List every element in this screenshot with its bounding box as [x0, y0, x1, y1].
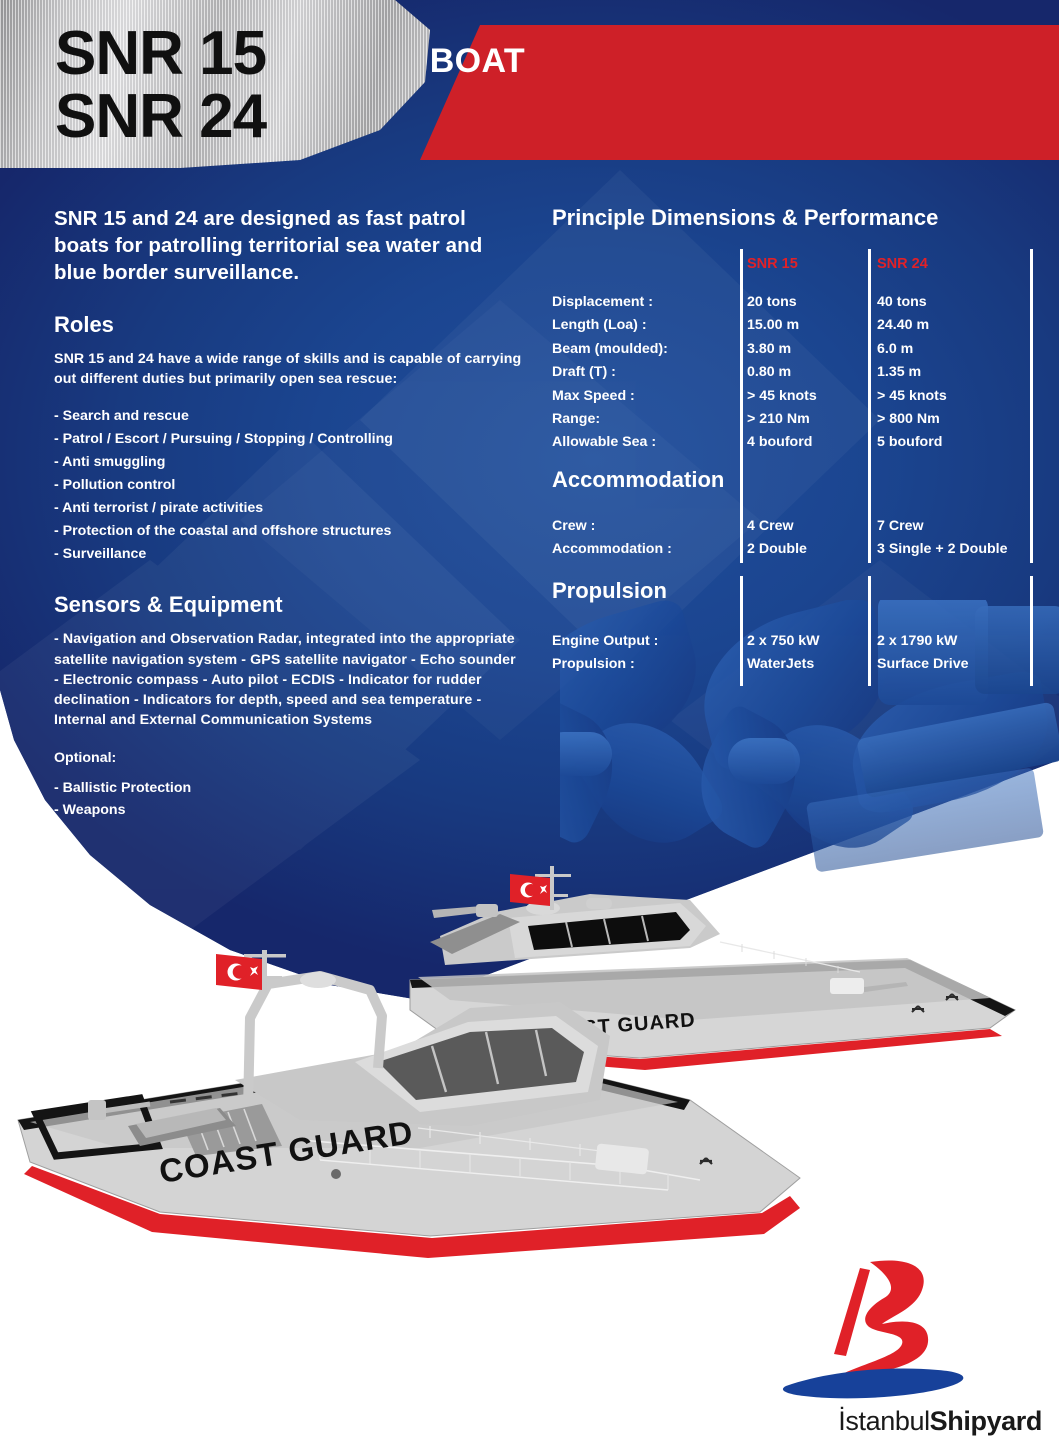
table-rule-1 [740, 249, 743, 457]
table-row: Engine Output : 2 x 750 kW 2 x 1790 kW [552, 630, 1042, 653]
spec-value-snr24: 1.35 m [877, 361, 1042, 384]
spec-value-snr15: 4 Crew [747, 515, 877, 538]
spec-label: Max Speed : [552, 385, 747, 408]
spec-value-snr24: 3 Single + 2 Double [877, 538, 1042, 561]
spec-value-snr15: 3.80 m [747, 338, 877, 361]
table-rule-2 [868, 249, 871, 457]
list-item: - Surveillance [54, 543, 524, 566]
list-item: - Patrol / Escort / Pursuing / Stopping … [54, 428, 524, 451]
specifications-column: Principle Dimensions & Performance SNR 1… [552, 205, 1042, 677]
table-row: Draft (T) : 0.80 m 1.35 m [552, 361, 1042, 384]
table-row: Beam (moulded): 3.80 m 6.0 m [552, 338, 1042, 361]
table-row: Max Speed : > 45 knots > 45 knots [552, 385, 1042, 408]
spec-value-snr24: > 800 Nm [877, 408, 1042, 431]
spec-value-snr15: > 210 Nm [747, 408, 877, 431]
roles-heading: Roles [54, 312, 524, 338]
spec-value-snr24: 24.40 m [877, 314, 1042, 337]
roles-list: - Search and rescue - Patrol / Escort / … [54, 405, 524, 566]
sensors-paragraph: - Navigation and Observation Radar, inte… [54, 629, 524, 730]
list-item: - Anti terrorist / pirate activities [54, 497, 524, 520]
model-line-1: SNR 15 [55, 22, 266, 85]
intro-paragraph: SNR 15 and 24 are designed as fast patro… [54, 205, 524, 286]
spec-label: Range: [552, 408, 747, 431]
spec-value-snr24: 2 x 1790 kW [877, 630, 1042, 653]
sensors-heading: Sensors & Equipment [54, 592, 524, 618]
table-rule-3 [1030, 451, 1033, 563]
spec-value-snr24: 5 bouford [877, 431, 1042, 454]
logo-wordmark: İstanbulShipyard [750, 1406, 1042, 1437]
table-row: Displacement : 20 tons 40 tons [552, 291, 1042, 314]
dimensions-table: SNR 15 SNR 24 Displacement : 20 tons 40 … [552, 253, 1042, 455]
spec-value-snr15: 0.80 m [747, 361, 877, 384]
list-item: - Protection of the coastal and offshore… [54, 520, 524, 543]
spec-value-snr15: > 45 knots [747, 385, 877, 408]
optional-list: - Ballistic Protection - Weapons [54, 778, 524, 821]
patrol-boat-front: COAST GUARD [0, 950, 860, 1270]
table-row: Range: > 210 Nm > 800 Nm [552, 408, 1042, 431]
table-row: Crew : 4 Crew 7 Crew [552, 515, 1042, 538]
list-item: - Weapons [54, 800, 524, 821]
spec-value-snr15: 4 bouford [747, 431, 877, 454]
propulsion-table: Engine Output : 2 x 750 kW 2 x 1790 kW P… [552, 630, 1042, 677]
list-item: - Pollution control [54, 474, 524, 497]
optional-heading: Optional: [54, 750, 524, 766]
page-header: FAST PATROL BOAT SNR 15 SNR 24 [0, 0, 1059, 170]
table-header-row: SNR 15 SNR 24 [552, 253, 1042, 277]
list-item: - Anti smuggling [54, 451, 524, 474]
table-rule-1 [740, 451, 743, 563]
spec-value-snr15: 20 tons [747, 291, 877, 314]
spec-label [552, 253, 747, 277]
propulsion-heading: Propulsion [552, 578, 1042, 604]
roles-intro: SNR 15 and 24 have a wide range of skill… [54, 349, 524, 389]
column-header-snr15: SNR 15 [747, 253, 877, 277]
logo-name-bold: Shipyard [930, 1406, 1042, 1436]
accommodation-table: Crew : 4 Crew 7 Crew Accommodation : 2 D… [552, 515, 1042, 562]
table-rule-3 [1030, 576, 1033, 686]
spec-value-snr15: 15.00 m [747, 314, 877, 337]
spec-label: Beam (moulded): [552, 338, 747, 361]
table-rule-3 [1030, 249, 1033, 457]
logo-name-light: İstanbul [838, 1406, 929, 1436]
accommodation-heading: Accommodation [552, 467, 1042, 493]
table-rule-2 [868, 451, 871, 563]
spec-value-snr24: 40 tons [877, 291, 1042, 314]
spec-label: Draft (T) : [552, 361, 747, 384]
table-rule-1 [740, 576, 743, 686]
company-logo: İstanbulShipyard [742, 1258, 1042, 1436]
table-row: Length (Loa) : 15.00 m 24.40 m [552, 314, 1042, 337]
spec-label: Length (Loa) : [552, 314, 747, 337]
model-line-2: SNR 24 [55, 85, 266, 148]
model-name-block: SNR 15 SNR 24 [55, 22, 266, 148]
spec-label: Engine Output : [552, 630, 747, 653]
list-item: - Ballistic Protection [54, 778, 524, 799]
list-item: - Search and rescue [54, 405, 524, 428]
spec-value-snr15: WaterJets [747, 653, 877, 676]
dimensions-heading: Principle Dimensions & Performance [552, 205, 1042, 231]
table-row: Propulsion : WaterJets Surface Drive [552, 653, 1042, 676]
spec-label: Crew : [552, 515, 747, 538]
spec-value-snr24: 6.0 m [877, 338, 1042, 361]
table-rule-2 [868, 576, 871, 686]
spec-value-snr15: 2 x 750 kW [747, 630, 877, 653]
spec-label: Propulsion : [552, 653, 747, 676]
spec-value-snr24: > 45 knots [877, 385, 1042, 408]
spec-value-snr24: Surface Drive [877, 653, 1042, 676]
spec-value-snr24: 7 Crew [877, 515, 1042, 538]
spec-label: Accommodation : [552, 538, 747, 561]
spec-value-snr15: 2 Double [747, 538, 877, 561]
spec-label: Allowable Sea : [552, 431, 747, 454]
table-row: Accommodation : 2 Double 3 Single + 2 Do… [552, 538, 1042, 561]
column-header-snr24: SNR 24 [877, 253, 1042, 277]
table-row: Allowable Sea : 4 bouford 5 bouford [552, 431, 1042, 454]
spec-label: Displacement : [552, 291, 747, 314]
left-content-column: SNR 15 and 24 are designed as fast patro… [54, 205, 524, 821]
